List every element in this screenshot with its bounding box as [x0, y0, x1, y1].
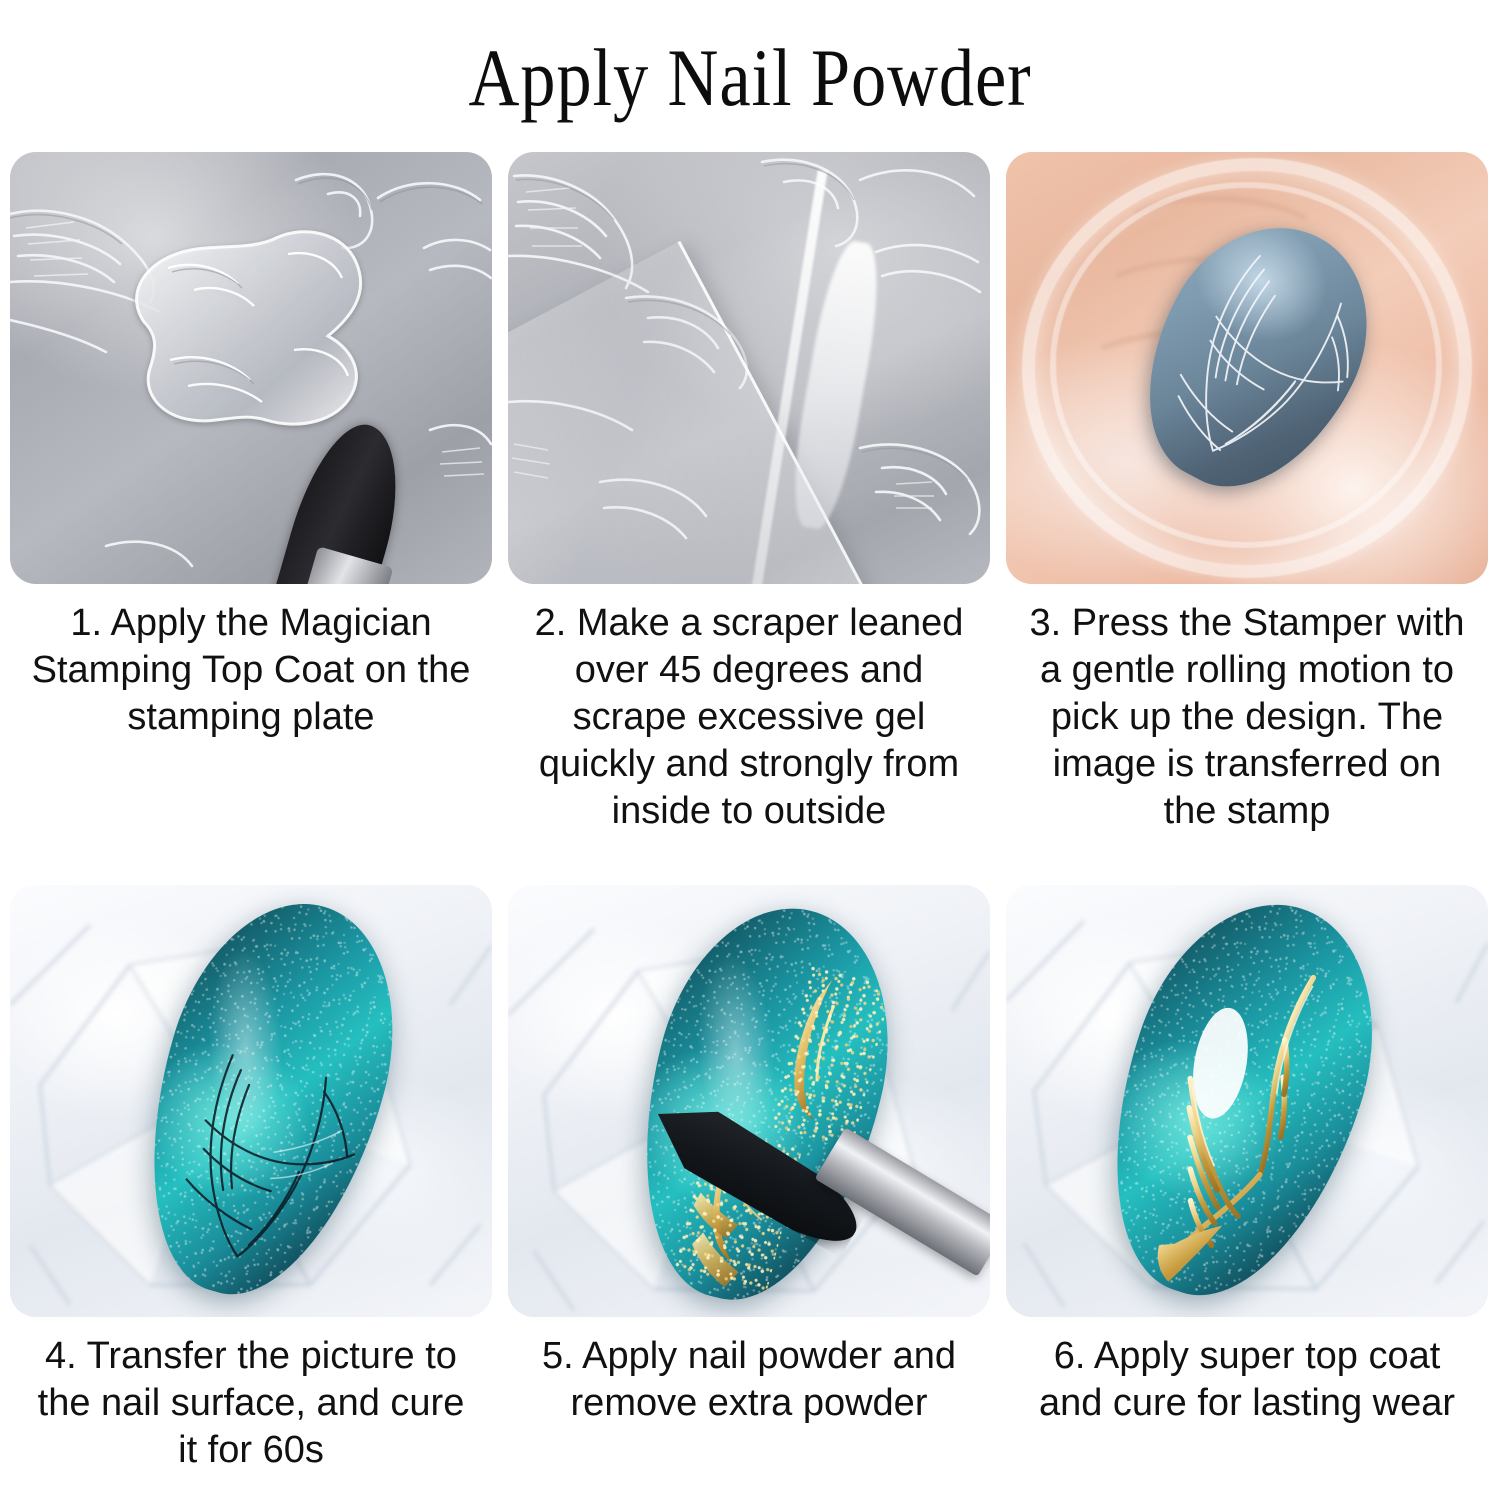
step-card-6: 6. Apply super top coat and cure for las… [1006, 885, 1488, 1474]
step-1-image [10, 152, 492, 584]
page-title: Apply Nail Powder [105, 30, 1395, 126]
step-card-2: 2. Make a scraper leaned over 45 degrees… [508, 152, 990, 852]
step-card-1: 1. Apply the Magician Stamping Top Coat … [10, 152, 492, 852]
step-3-caption: 3. Press the Stamper with a gentle rolli… [1006, 584, 1488, 852]
step-card-3: 3. Press the Stamper with a gentle rolli… [1006, 152, 1488, 852]
step-card-4: 4. Transfer the picture to the nail surf… [10, 885, 492, 1474]
steps-row-bottom: 4. Transfer the picture to the nail surf… [10, 885, 1488, 1474]
step-4-caption: 4. Transfer the picture to the nail surf… [10, 1317, 492, 1474]
steps-row-top: 1. Apply the Magician Stamping Top Coat … [10, 152, 1488, 852]
step-2-caption: 2. Make a scraper leaned over 45 degrees… [508, 584, 990, 852]
step-card-5: 5. Apply nail powder and remove extra po… [508, 885, 990, 1474]
step-1-caption: 1. Apply the Magician Stamping Top Coat … [10, 584, 492, 852]
step-3-image [1006, 152, 1488, 584]
step-4-image [10, 885, 492, 1317]
step-6-caption: 6. Apply super top coat and cure for las… [1006, 1317, 1488, 1437]
step-5-caption: 5. Apply nail powder and remove extra po… [508, 1317, 990, 1437]
step-5-image [508, 885, 990, 1317]
infographic-page: Apply Nail Powder [0, 0, 1500, 1500]
plate-engraved-shadow-2 [508, 152, 990, 584]
step-6-image [1006, 885, 1488, 1317]
step-2-image [508, 152, 990, 584]
